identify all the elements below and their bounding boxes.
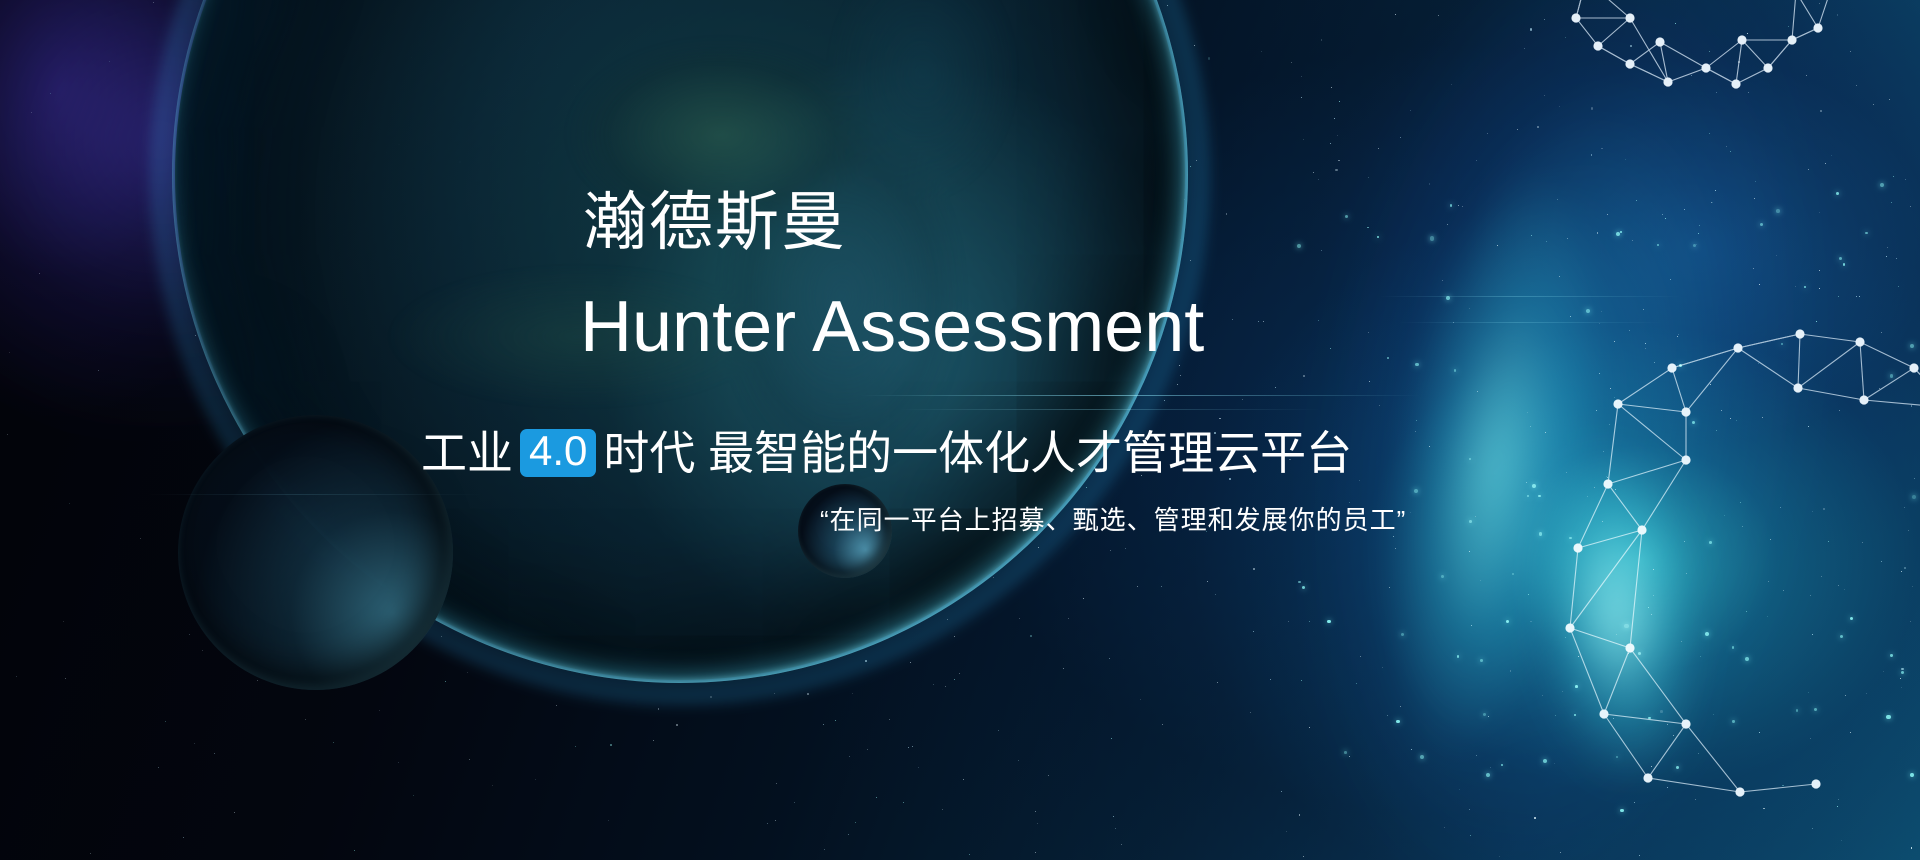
page-title-chinese: 瀚德斯曼: [583, 190, 847, 254]
hero-copy: 瀚德斯曼 Hunter Assessment 工业 4.0 时代 最智能的一体化…: [0, 0, 1920, 860]
tagline-quote: “在同一平台上招募、甄选、管理和发展你的员工”: [820, 505, 1406, 536]
tagline: 工业 4.0 时代 最智能的一体化人才管理云平台: [421, 428, 1352, 479]
industry-version-badge: 4.0: [520, 429, 596, 477]
tagline-prefix: 工业: [421, 428, 513, 479]
page-title-english: Hunter Assessment: [580, 291, 1204, 363]
tagline-suffix: 时代 最智能的一体化人才管理云平台: [603, 428, 1352, 479]
hero-banner: 瀚德斯曼 Hunter Assessment 工业 4.0 时代 最智能的一体化…: [0, 0, 1920, 860]
